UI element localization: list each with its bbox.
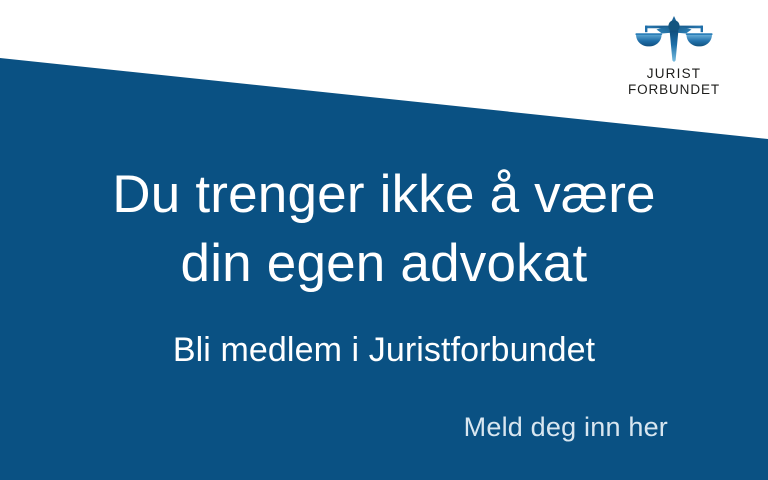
logo-wordmark-line1: JURIST xyxy=(647,66,701,81)
scales-of-justice-icon xyxy=(631,14,717,62)
logo-wordmark-line2: FORBUNDET xyxy=(622,82,726,98)
juristforbundet-logo[interactable]: JURIST FORBUNDET xyxy=(622,14,726,97)
advertisement-banner[interactable]: JURIST FORBUNDET Du trenger ikke å være … xyxy=(0,0,768,480)
headline-line-1: Du trenger ikke å være xyxy=(0,160,768,229)
headline-line-2: din egen advokat xyxy=(0,229,768,298)
signup-cta-link[interactable]: Meld deg inn her xyxy=(464,410,668,444)
subtitle: Bli medlem i Juristforbundet xyxy=(0,329,768,371)
headline: Du trenger ikke å være din egen advokat xyxy=(0,160,768,298)
logo-wordmark: JURIST FORBUNDET xyxy=(622,66,726,97)
